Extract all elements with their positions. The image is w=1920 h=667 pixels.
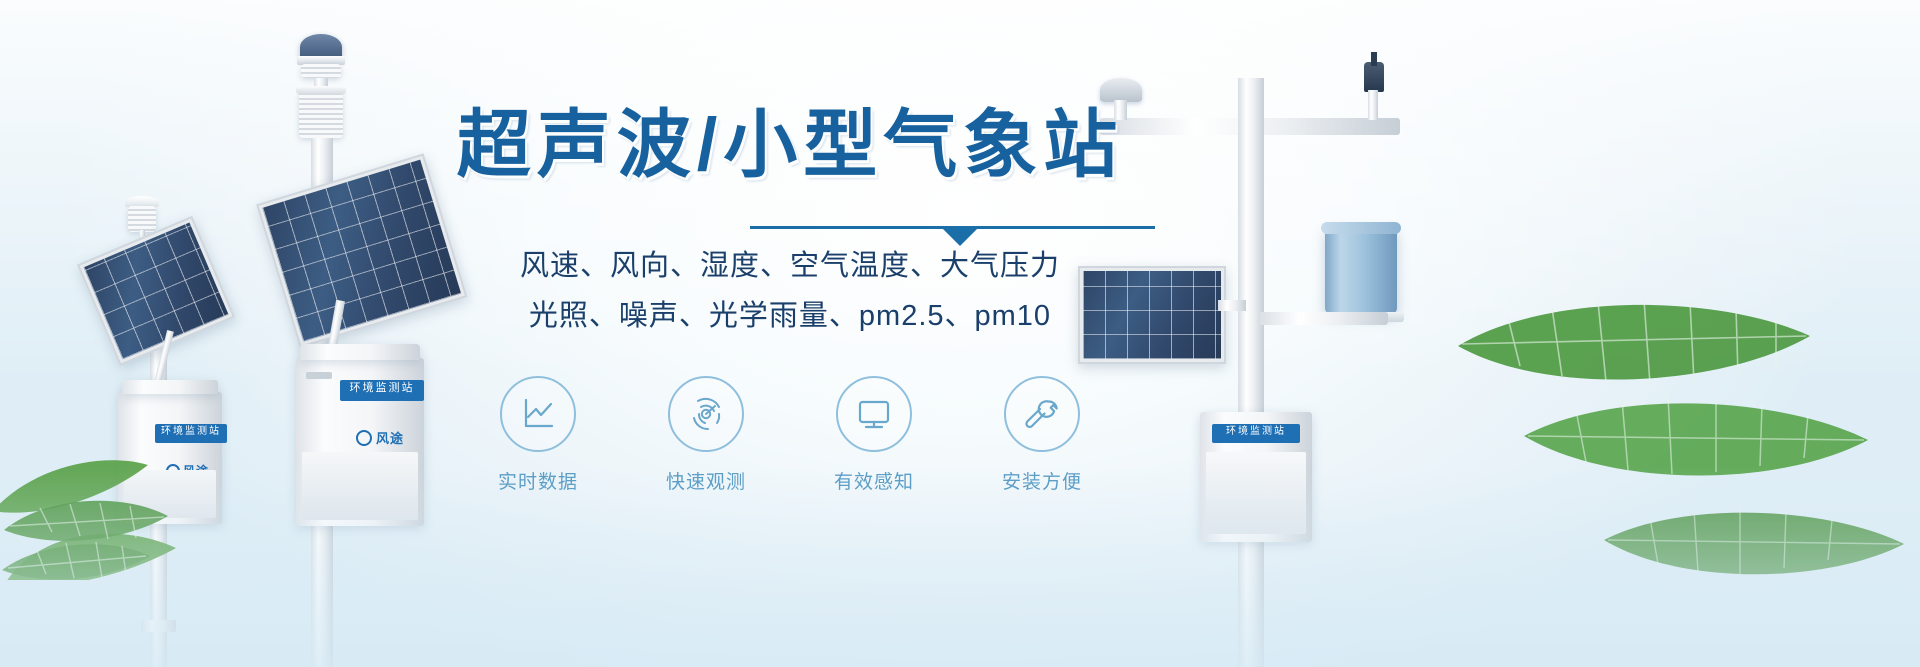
feature-item-easy-install[interactable]: 安装方便 [984,376,1100,494]
divider-triangle-icon [943,229,977,246]
product-hero-banner: 环境监测站 风途 环境监测站 风途 [0,0,1920,667]
shield-top-plate [296,86,346,94]
enclosure-box-large-top [300,344,420,360]
feature-label: 实时数据 [480,467,596,494]
rain-gauge-rim [1321,222,1401,234]
hero-text-block: 超声波/小型气象站 风速、风向、湿度、空气温度、大气压力 光照、噪声、光学雨量、… [430,108,1150,494]
feature-label: 快速观测 [648,467,764,494]
radiation-shield-sensor-large [299,90,343,138]
tropical-leaf-left [0,320,200,580]
feature-item-effective-sensing[interactable]: 有效感知 [816,376,932,494]
radar-observation-icon [684,392,728,436]
monitor-display-icon [853,393,895,435]
page-title: 超声波/小型气象站 [430,108,1150,182]
tropical-leaf-right [1428,250,1920,667]
feature-icon-circle [500,376,576,452]
feature-list: 实时数据 快 [430,376,1150,494]
subtitle-line-1: 风速、风向、湿度、空气温度、大气压力 [430,244,1150,290]
wrench-tool-icon [1021,393,1063,435]
subtitle-line-2: 光照、噪声、光学雨量、pm2.5、pm10 [430,294,1150,340]
brand-logo-text-large: 风途 [356,428,404,447]
feature-item-realtime-data[interactable]: 实时数据 [480,376,596,494]
lower-crossarm [1258,312,1388,325]
enclosure-box-large-label: 环境监测站 [340,380,424,401]
radiation-shield-sensor [128,206,156,232]
wind-vane-spindle [1371,52,1377,66]
feature-label: 有效感知 [816,467,932,494]
feature-item-fast-observation[interactable]: 快速观测 [648,376,764,494]
optical-rain-gauge [1325,228,1397,314]
brand-mark-icon-large [356,430,372,446]
mast-base-flange [141,620,176,632]
title-divider [430,208,1150,242]
feature-icon-circle [1004,376,1080,452]
enclosure-vent-slot [306,372,332,379]
wind-vane-sensor [1364,62,1384,92]
line-chart-icon [517,393,559,435]
solar-panel-right-arm [1218,300,1246,311]
enclosure-right-lower-panel [1206,452,1306,534]
feature-icon-circle [668,376,744,452]
feature-label: 安装方便 [984,467,1100,494]
station-mast-right [1238,78,1264,667]
wind-vane-stem [1368,90,1378,120]
ultrasonic-sensor-right-arm [1100,78,1142,102]
sensor-shield-upper [301,64,341,78]
feature-icon-circle [836,376,912,452]
enclosure-box-right-label: 环境监测站 [1212,424,1300,443]
enclosure-large-lower-panel [302,452,418,520]
